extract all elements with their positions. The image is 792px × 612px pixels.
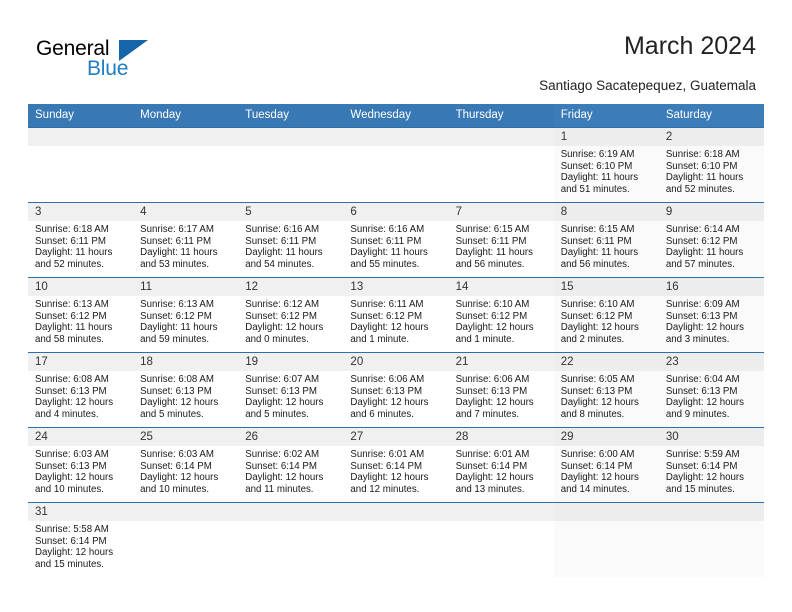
- day-number: 20: [343, 353, 448, 371]
- day-sun-details: Sunrise: 5:58 AMSunset: 6:14 PMDaylight:…: [28, 521, 133, 570]
- calendar-day-cell[interactable]: 16Sunrise: 6:09 AMSunset: 6:13 PMDayligh…: [659, 278, 764, 353]
- page-subtitle: Santiago Sacatepequez, Guatemala: [539, 78, 756, 93]
- sunrise-time: Sunrise: 6:13 AM: [35, 299, 128, 311]
- daylight-duration-line2: and 52 minutes.: [35, 259, 128, 271]
- day-number: 15: [554, 278, 659, 296]
- month-calendar: Sunday Monday Tuesday Wednesday Thursday…: [28, 104, 764, 577]
- daylight-duration-line2: and 7 minutes.: [456, 409, 549, 421]
- calendar-day-cell[interactable]: 4Sunrise: 6:17 AMSunset: 6:11 PMDaylight…: [133, 203, 238, 278]
- sunrise-time: Sunrise: 6:04 AM: [666, 374, 759, 386]
- daylight-duration-line2: and 56 minutes.: [456, 259, 549, 271]
- calendar-week-row: 10Sunrise: 6:13 AMSunset: 6:12 PMDayligh…: [28, 278, 764, 353]
- day-cell-inner: 21Sunrise: 6:06 AMSunset: 6:13 PMDayligh…: [449, 353, 554, 427]
- sunrise-time: Sunrise: 6:18 AM: [35, 224, 128, 236]
- daylight-duration-line1: Daylight: 11 hours: [140, 247, 233, 259]
- daylight-duration-line1: Daylight: 12 hours: [666, 322, 759, 334]
- daylight-duration-line1: Daylight: 12 hours: [350, 472, 443, 484]
- day-cell-inner: 10Sunrise: 6:13 AMSunset: 6:12 PMDayligh…: [28, 278, 133, 352]
- page-header: General Blue March 2024 Santiago Sacatep…: [0, 0, 792, 103]
- day-number: 23: [659, 353, 764, 371]
- daylight-duration-line2: and 52 minutes.: [666, 184, 759, 196]
- calendar-day-cell[interactable]: 19Sunrise: 6:07 AMSunset: 6:13 PMDayligh…: [238, 353, 343, 428]
- weekday-header-sunday: Sunday: [28, 104, 133, 128]
- daylight-duration-line1: Daylight: 12 hours: [561, 472, 654, 484]
- day-sun-details: Sunrise: 6:08 AMSunset: 6:13 PMDaylight:…: [133, 371, 238, 420]
- day-number: [28, 128, 133, 146]
- daylight-duration-line1: Daylight: 11 hours: [666, 172, 759, 184]
- day-cell-inner: [554, 503, 659, 577]
- day-number: 12: [238, 278, 343, 296]
- calendar-body: 1Sunrise: 6:19 AMSunset: 6:10 PMDaylight…: [28, 128, 764, 578]
- day-cell-inner: 1Sunrise: 6:19 AMSunset: 6:10 PMDaylight…: [554, 128, 659, 202]
- calendar-day-cell[interactable]: 22Sunrise: 6:05 AMSunset: 6:13 PMDayligh…: [554, 353, 659, 428]
- day-cell-inner: 2Sunrise: 6:18 AMSunset: 6:10 PMDaylight…: [659, 128, 764, 202]
- daylight-duration-line2: and 15 minutes.: [35, 559, 128, 571]
- calendar-day-cell[interactable]: 1Sunrise: 6:19 AMSunset: 6:10 PMDaylight…: [554, 128, 659, 203]
- calendar-day-cell[interactable]: 15Sunrise: 6:10 AMSunset: 6:12 PMDayligh…: [554, 278, 659, 353]
- daylight-duration-line2: and 55 minutes.: [350, 259, 443, 271]
- daylight-duration-line2: and 58 minutes.: [35, 334, 128, 346]
- daylight-duration-line2: and 9 minutes.: [666, 409, 759, 421]
- sunset-time: Sunset: 6:13 PM: [561, 386, 654, 398]
- day-cell-inner: 16Sunrise: 6:09 AMSunset: 6:13 PMDayligh…: [659, 278, 764, 352]
- day-number: 5: [238, 203, 343, 221]
- sunrise-time: Sunrise: 6:01 AM: [350, 449, 443, 461]
- day-number: 24: [28, 428, 133, 446]
- sunrise-time: Sunrise: 6:05 AM: [561, 374, 654, 386]
- day-number: 25: [133, 428, 238, 446]
- day-cell-inner: 11Sunrise: 6:13 AMSunset: 6:12 PMDayligh…: [133, 278, 238, 352]
- sunrise-time: Sunrise: 6:16 AM: [350, 224, 443, 236]
- day-cell-inner: [28, 128, 133, 202]
- day-sun-details: Sunrise: 6:05 AMSunset: 6:13 PMDaylight:…: [554, 371, 659, 420]
- sunset-time: Sunset: 6:12 PM: [350, 311, 443, 323]
- day-number: 9: [659, 203, 764, 221]
- day-sun-details: Sunrise: 6:01 AMSunset: 6:14 PMDaylight:…: [449, 446, 554, 495]
- daylight-duration-line1: Daylight: 12 hours: [140, 397, 233, 409]
- daylight-duration-line1: Daylight: 12 hours: [456, 472, 549, 484]
- daylight-duration-line1: Daylight: 11 hours: [35, 322, 128, 334]
- day-number: [343, 503, 448, 521]
- day-sun-details: Sunrise: 6:13 AMSunset: 6:12 PMDaylight:…: [28, 296, 133, 345]
- day-number: 18: [133, 353, 238, 371]
- daylight-duration-line2: and 8 minutes.: [561, 409, 654, 421]
- sunrise-time: Sunrise: 6:02 AM: [245, 449, 338, 461]
- logo-text-blue: Blue: [87, 57, 128, 81]
- daylight-duration-line2: and 53 minutes.: [140, 259, 233, 271]
- day-sun-details: Sunrise: 6:06 AMSunset: 6:13 PMDaylight:…: [343, 371, 448, 420]
- daylight-duration-line1: Daylight: 11 hours: [561, 172, 654, 184]
- day-cell-inner: 25Sunrise: 6:03 AMSunset: 6:14 PMDayligh…: [133, 428, 238, 502]
- daylight-duration-line2: and 1 minute.: [456, 334, 549, 346]
- day-cell-inner: 8Sunrise: 6:15 AMSunset: 6:11 PMDaylight…: [554, 203, 659, 277]
- day-sun-details: Sunrise: 6:00 AMSunset: 6:14 PMDaylight:…: [554, 446, 659, 495]
- daylight-duration-line2: and 6 minutes.: [350, 409, 443, 421]
- calendar-day-cell[interactable]: 25Sunrise: 6:03 AMSunset: 6:14 PMDayligh…: [133, 428, 238, 503]
- daylight-duration-line2: and 57 minutes.: [666, 259, 759, 271]
- sunset-time: Sunset: 6:12 PM: [35, 311, 128, 323]
- daylight-duration-line1: Daylight: 12 hours: [561, 322, 654, 334]
- sunrise-time: Sunrise: 6:03 AM: [35, 449, 128, 461]
- day-cell-inner: 14Sunrise: 6:10 AMSunset: 6:12 PMDayligh…: [449, 278, 554, 352]
- day-sun-details: Sunrise: 6:18 AMSunset: 6:10 PMDaylight:…: [659, 146, 764, 195]
- day-number: [238, 503, 343, 521]
- sunrise-time: Sunrise: 6:12 AM: [245, 299, 338, 311]
- day-sun-details: Sunrise: 6:15 AMSunset: 6:11 PMDaylight:…: [554, 221, 659, 270]
- sunset-time: Sunset: 6:14 PM: [245, 461, 338, 473]
- day-number: 14: [449, 278, 554, 296]
- day-cell-inner: [449, 128, 554, 202]
- day-sun-details: Sunrise: 6:08 AMSunset: 6:13 PMDaylight:…: [28, 371, 133, 420]
- day-number: [238, 128, 343, 146]
- daylight-duration-line2: and 56 minutes.: [561, 259, 654, 271]
- day-number: 30: [659, 428, 764, 446]
- sunrise-time: Sunrise: 6:15 AM: [561, 224, 654, 236]
- calendar-day-cell[interactable]: 11Sunrise: 6:13 AMSunset: 6:12 PMDayligh…: [133, 278, 238, 353]
- daylight-duration-line2: and 13 minutes.: [456, 484, 549, 496]
- day-sun-details: Sunrise: 6:14 AMSunset: 6:12 PMDaylight:…: [659, 221, 764, 270]
- daylight-duration-line1: Daylight: 11 hours: [666, 247, 759, 259]
- sunrise-time: Sunrise: 6:07 AM: [245, 374, 338, 386]
- calendar-cell-empty: [554, 503, 659, 578]
- calendar-cell-empty: [238, 503, 343, 578]
- calendar-day-cell[interactable]: 24Sunrise: 6:03 AMSunset: 6:13 PMDayligh…: [28, 428, 133, 503]
- day-sun-details: Sunrise: 6:01 AMSunset: 6:14 PMDaylight:…: [343, 446, 448, 495]
- calendar-day-cell[interactable]: 31Sunrise: 5:58 AMSunset: 6:14 PMDayligh…: [28, 503, 133, 578]
- day-number: 6: [343, 203, 448, 221]
- sunrise-time: Sunrise: 6:06 AM: [456, 374, 549, 386]
- sunset-time: Sunset: 6:11 PM: [350, 236, 443, 248]
- sunrise-time: Sunrise: 6:16 AM: [245, 224, 338, 236]
- day-number: 4: [133, 203, 238, 221]
- day-number: 22: [554, 353, 659, 371]
- sunrise-time: Sunrise: 5:59 AM: [666, 449, 759, 461]
- daylight-duration-line2: and 5 minutes.: [245, 409, 338, 421]
- sunset-time: Sunset: 6:14 PM: [140, 461, 233, 473]
- day-cell-inner: 3Sunrise: 6:18 AMSunset: 6:11 PMDaylight…: [28, 203, 133, 277]
- day-number: 28: [449, 428, 554, 446]
- sunset-time: Sunset: 6:12 PM: [456, 311, 549, 323]
- sunrise-time: Sunrise: 6:19 AM: [561, 149, 654, 161]
- day-sun-details: Sunrise: 6:16 AMSunset: 6:11 PMDaylight:…: [343, 221, 448, 270]
- day-number: 17: [28, 353, 133, 371]
- sunrise-time: Sunrise: 6:00 AM: [561, 449, 654, 461]
- daylight-duration-line2: and 5 minutes.: [140, 409, 233, 421]
- sunrise-time: Sunrise: 6:17 AM: [140, 224, 233, 236]
- day-sun-details: Sunrise: 6:10 AMSunset: 6:12 PMDaylight:…: [449, 296, 554, 345]
- calendar-day-cell[interactable]: 12Sunrise: 6:12 AMSunset: 6:12 PMDayligh…: [238, 278, 343, 353]
- sunrise-time: Sunrise: 6:06 AM: [350, 374, 443, 386]
- calendar-day-cell[interactable]: 26Sunrise: 6:02 AMSunset: 6:14 PMDayligh…: [238, 428, 343, 503]
- calendar-cell-empty: [343, 503, 448, 578]
- daylight-duration-line1: Daylight: 12 hours: [245, 397, 338, 409]
- weekday-header-friday: Friday: [554, 104, 659, 128]
- calendar-cell-empty: [449, 128, 554, 203]
- day-number: [554, 503, 659, 521]
- weekday-header-saturday: Saturday: [659, 104, 764, 128]
- daylight-duration-line1: Daylight: 12 hours: [350, 397, 443, 409]
- sunset-time: Sunset: 6:13 PM: [456, 386, 549, 398]
- day-cell-inner: 6Sunrise: 6:16 AMSunset: 6:11 PMDaylight…: [343, 203, 448, 277]
- day-cell-inner: 7Sunrise: 6:15 AMSunset: 6:11 PMDaylight…: [449, 203, 554, 277]
- day-sun-details: Sunrise: 6:04 AMSunset: 6:13 PMDaylight:…: [659, 371, 764, 420]
- day-number: 26: [238, 428, 343, 446]
- day-sun-details: Sunrise: 6:13 AMSunset: 6:12 PMDaylight:…: [133, 296, 238, 345]
- daylight-duration-line1: Daylight: 11 hours: [561, 247, 654, 259]
- sunrise-time: Sunrise: 6:10 AM: [561, 299, 654, 311]
- day-sun-details: Sunrise: 6:03 AMSunset: 6:13 PMDaylight:…: [28, 446, 133, 495]
- sunset-time: Sunset: 6:11 PM: [140, 236, 233, 248]
- general-blue-logo[interactable]: General Blue: [36, 37, 156, 87]
- day-number: [659, 503, 764, 521]
- day-number: [133, 503, 238, 521]
- sunrise-time: Sunrise: 6:10 AM: [456, 299, 549, 311]
- daylight-duration-line1: Daylight: 11 hours: [140, 322, 233, 334]
- day-cell-inner: 23Sunrise: 6:04 AMSunset: 6:13 PMDayligh…: [659, 353, 764, 427]
- day-sun-details: Sunrise: 6:03 AMSunset: 6:14 PMDaylight:…: [133, 446, 238, 495]
- day-sun-details: Sunrise: 6:12 AMSunset: 6:12 PMDaylight:…: [238, 296, 343, 345]
- day-cell-inner: 17Sunrise: 6:08 AMSunset: 6:13 PMDayligh…: [28, 353, 133, 427]
- day-sun-details: Sunrise: 6:15 AMSunset: 6:11 PMDaylight:…: [449, 221, 554, 270]
- day-number: 27: [343, 428, 448, 446]
- day-number: [449, 128, 554, 146]
- daylight-duration-line1: Daylight: 12 hours: [561, 397, 654, 409]
- daylight-duration-line2: and 4 minutes.: [35, 409, 128, 421]
- day-number: [133, 128, 238, 146]
- daylight-duration-line2: and 3 minutes.: [666, 334, 759, 346]
- sunset-time: Sunset: 6:12 PM: [561, 311, 654, 323]
- day-cell-inner: 31Sunrise: 5:58 AMSunset: 6:14 PMDayligh…: [28, 503, 133, 577]
- day-cell-inner: 19Sunrise: 6:07 AMSunset: 6:13 PMDayligh…: [238, 353, 343, 427]
- calendar-day-cell[interactable]: 23Sunrise: 6:04 AMSunset: 6:13 PMDayligh…: [659, 353, 764, 428]
- calendar-cell-empty: [28, 128, 133, 203]
- page-title: March 2024: [624, 32, 756, 61]
- day-number: 21: [449, 353, 554, 371]
- day-number: [449, 503, 554, 521]
- calendar-day-cell[interactable]: 3Sunrise: 6:18 AMSunset: 6:11 PMDaylight…: [28, 203, 133, 278]
- sunrise-time: Sunrise: 6:03 AM: [140, 449, 233, 461]
- day-number: 7: [449, 203, 554, 221]
- calendar-week-row: 1Sunrise: 6:19 AMSunset: 6:10 PMDaylight…: [28, 128, 764, 203]
- daylight-duration-line1: Daylight: 12 hours: [456, 397, 549, 409]
- day-sun-details: Sunrise: 6:16 AMSunset: 6:11 PMDaylight:…: [238, 221, 343, 270]
- day-number: 19: [238, 353, 343, 371]
- calendar-day-cell[interactable]: 18Sunrise: 6:08 AMSunset: 6:13 PMDayligh…: [133, 353, 238, 428]
- sunset-time: Sunset: 6:13 PM: [666, 386, 759, 398]
- daylight-duration-line1: Daylight: 12 hours: [245, 322, 338, 334]
- sunset-time: Sunset: 6:10 PM: [561, 161, 654, 173]
- daylight-duration-line1: Daylight: 12 hours: [666, 472, 759, 484]
- day-cell-inner: 28Sunrise: 6:01 AMSunset: 6:14 PMDayligh…: [449, 428, 554, 502]
- calendar-day-cell[interactable]: 10Sunrise: 6:13 AMSunset: 6:12 PMDayligh…: [28, 278, 133, 353]
- sunset-time: Sunset: 6:14 PM: [456, 461, 549, 473]
- sunset-time: Sunset: 6:11 PM: [561, 236, 654, 248]
- calendar-day-cell[interactable]: 7Sunrise: 6:15 AMSunset: 6:11 PMDaylight…: [449, 203, 554, 278]
- sunset-time: Sunset: 6:14 PM: [35, 536, 128, 548]
- calendar-day-cell[interactable]: 14Sunrise: 6:10 AMSunset: 6:12 PMDayligh…: [449, 278, 554, 353]
- sunset-time: Sunset: 6:14 PM: [350, 461, 443, 473]
- sunset-time: Sunset: 6:12 PM: [245, 311, 338, 323]
- sunset-time: Sunset: 6:12 PM: [666, 236, 759, 248]
- daylight-duration-line2: and 59 minutes.: [140, 334, 233, 346]
- day-sun-details: Sunrise: 6:19 AMSunset: 6:10 PMDaylight:…: [554, 146, 659, 195]
- sunset-time: Sunset: 6:11 PM: [245, 236, 338, 248]
- daylight-duration-line1: Daylight: 12 hours: [35, 397, 128, 409]
- day-number: 13: [343, 278, 448, 296]
- daylight-duration-line2: and 11 minutes.: [245, 484, 338, 496]
- daylight-duration-line2: and 15 minutes.: [666, 484, 759, 496]
- weekday-header-tuesday: Tuesday: [238, 104, 343, 128]
- day-sun-details: Sunrise: 6:07 AMSunset: 6:13 PMDaylight:…: [238, 371, 343, 420]
- calendar-cell-empty: [449, 503, 554, 578]
- calendar-day-cell[interactable]: 13Sunrise: 6:11 AMSunset: 6:12 PMDayligh…: [343, 278, 448, 353]
- sunset-time: Sunset: 6:13 PM: [666, 311, 759, 323]
- calendar-day-cell[interactable]: 28Sunrise: 6:01 AMSunset: 6:14 PMDayligh…: [449, 428, 554, 503]
- daylight-duration-line1: Daylight: 12 hours: [666, 397, 759, 409]
- calendar-day-cell[interactable]: 30Sunrise: 5:59 AMSunset: 6:14 PMDayligh…: [659, 428, 764, 503]
- calendar-day-cell[interactable]: 6Sunrise: 6:16 AMSunset: 6:11 PMDaylight…: [343, 203, 448, 278]
- calendar-day-cell[interactable]: 17Sunrise: 6:08 AMSunset: 6:13 PMDayligh…: [28, 353, 133, 428]
- daylight-duration-line1: Daylight: 12 hours: [140, 472, 233, 484]
- sunset-time: Sunset: 6:13 PM: [140, 386, 233, 398]
- day-number: 31: [28, 503, 133, 521]
- daylight-duration-line2: and 12 minutes.: [350, 484, 443, 496]
- daylight-duration-line2: and 2 minutes.: [561, 334, 654, 346]
- sunrise-time: Sunrise: 6:08 AM: [35, 374, 128, 386]
- daylight-duration-line1: Daylight: 12 hours: [35, 472, 128, 484]
- sunset-time: Sunset: 6:14 PM: [561, 461, 654, 473]
- daylight-duration-line1: Daylight: 11 hours: [35, 247, 128, 259]
- day-sun-details: Sunrise: 6:06 AMSunset: 6:13 PMDaylight:…: [449, 371, 554, 420]
- calendar-cell-empty: [133, 503, 238, 578]
- sunset-time: Sunset: 6:14 PM: [666, 461, 759, 473]
- day-cell-inner: 27Sunrise: 6:01 AMSunset: 6:14 PMDayligh…: [343, 428, 448, 502]
- calendar-day-cell[interactable]: 20Sunrise: 6:06 AMSunset: 6:13 PMDayligh…: [343, 353, 448, 428]
- day-cell-inner: 29Sunrise: 6:00 AMSunset: 6:14 PMDayligh…: [554, 428, 659, 502]
- day-number: 1: [554, 128, 659, 146]
- sunset-time: Sunset: 6:13 PM: [35, 461, 128, 473]
- day-number: [343, 128, 448, 146]
- calendar-day-cell[interactable]: 27Sunrise: 6:01 AMSunset: 6:14 PMDayligh…: [343, 428, 448, 503]
- day-cell-inner: 5Sunrise: 6:16 AMSunset: 6:11 PMDaylight…: [238, 203, 343, 277]
- day-cell-inner: 26Sunrise: 6:02 AMSunset: 6:14 PMDayligh…: [238, 428, 343, 502]
- calendar-day-cell[interactable]: 21Sunrise: 6:06 AMSunset: 6:13 PMDayligh…: [449, 353, 554, 428]
- calendar-cell-empty: [238, 128, 343, 203]
- daylight-duration-line1: Daylight: 12 hours: [456, 322, 549, 334]
- day-sun-details: Sunrise: 6:18 AMSunset: 6:11 PMDaylight:…: [28, 221, 133, 270]
- sunrise-time: Sunrise: 6:11 AM: [350, 299, 443, 311]
- day-sun-details: Sunrise: 6:10 AMSunset: 6:12 PMDaylight:…: [554, 296, 659, 345]
- daylight-duration-line2: and 1 minute.: [350, 334, 443, 346]
- sunset-time: Sunset: 6:10 PM: [666, 161, 759, 173]
- day-number: 3: [28, 203, 133, 221]
- weekday-header-thursday: Thursday: [449, 104, 554, 128]
- day-number: 11: [133, 278, 238, 296]
- calendar-header-row: Sunday Monday Tuesday Wednesday Thursday…: [28, 104, 764, 128]
- day-cell-inner: 22Sunrise: 6:05 AMSunset: 6:13 PMDayligh…: [554, 353, 659, 427]
- daylight-duration-line1: Daylight: 12 hours: [350, 322, 443, 334]
- calendar-cell-empty: [343, 128, 448, 203]
- sunset-time: Sunset: 6:13 PM: [350, 386, 443, 398]
- calendar-week-row: 31Sunrise: 5:58 AMSunset: 6:14 PMDayligh…: [28, 503, 764, 578]
- day-sun-details: Sunrise: 5:59 AMSunset: 6:14 PMDaylight:…: [659, 446, 764, 495]
- sunrise-time: Sunrise: 6:14 AM: [666, 224, 759, 236]
- sunrise-time: Sunrise: 6:08 AM: [140, 374, 233, 386]
- calendar-day-cell[interactable]: 8Sunrise: 6:15 AMSunset: 6:11 PMDaylight…: [554, 203, 659, 278]
- daylight-duration-line2: and 10 minutes.: [140, 484, 233, 496]
- weekday-header-wednesday: Wednesday: [343, 104, 448, 128]
- day-cell-inner: [449, 503, 554, 577]
- calendar-day-cell[interactable]: 9Sunrise: 6:14 AMSunset: 6:12 PMDaylight…: [659, 203, 764, 278]
- day-sun-details: Sunrise: 6:11 AMSunset: 6:12 PMDaylight:…: [343, 296, 448, 345]
- day-sun-details: Sunrise: 6:09 AMSunset: 6:13 PMDaylight:…: [659, 296, 764, 345]
- day-cell-inner: 30Sunrise: 5:59 AMSunset: 6:14 PMDayligh…: [659, 428, 764, 502]
- day-cell-inner: 18Sunrise: 6:08 AMSunset: 6:13 PMDayligh…: [133, 353, 238, 427]
- day-cell-inner: [238, 128, 343, 202]
- daylight-duration-line2: and 14 minutes.: [561, 484, 654, 496]
- sunrise-time: Sunrise: 6:15 AM: [456, 224, 549, 236]
- calendar-day-cell[interactable]: 2Sunrise: 6:18 AMSunset: 6:10 PMDaylight…: [659, 128, 764, 203]
- day-sun-details: Sunrise: 6:02 AMSunset: 6:14 PMDaylight:…: [238, 446, 343, 495]
- calendar-week-row: 24Sunrise: 6:03 AMSunset: 6:13 PMDayligh…: [28, 428, 764, 503]
- daylight-duration-line2: and 10 minutes.: [35, 484, 128, 496]
- day-number: 16: [659, 278, 764, 296]
- daylight-duration-line1: Daylight: 12 hours: [245, 472, 338, 484]
- sunrise-time: Sunrise: 6:09 AM: [666, 299, 759, 311]
- daylight-duration-line2: and 51 minutes.: [561, 184, 654, 196]
- calendar-cell-empty: [659, 503, 764, 578]
- calendar-week-row: 3Sunrise: 6:18 AMSunset: 6:11 PMDaylight…: [28, 203, 764, 278]
- sunrise-time: Sunrise: 6:18 AM: [666, 149, 759, 161]
- day-number: 10: [28, 278, 133, 296]
- daylight-duration-line1: Daylight: 11 hours: [350, 247, 443, 259]
- sunset-time: Sunset: 6:13 PM: [245, 386, 338, 398]
- sunset-time: Sunset: 6:11 PM: [456, 236, 549, 248]
- day-cell-inner: 13Sunrise: 6:11 AMSunset: 6:12 PMDayligh…: [343, 278, 448, 352]
- sunset-time: Sunset: 6:11 PM: [35, 236, 128, 248]
- day-number: 29: [554, 428, 659, 446]
- day-cell-inner: [343, 128, 448, 202]
- day-cell-inner: [238, 503, 343, 577]
- weekday-header-monday: Monday: [133, 104, 238, 128]
- daylight-duration-line1: Daylight: 12 hours: [35, 547, 128, 559]
- day-cell-inner: 4Sunrise: 6:17 AMSunset: 6:11 PMDaylight…: [133, 203, 238, 277]
- day-cell-inner: 12Sunrise: 6:12 AMSunset: 6:12 PMDayligh…: [238, 278, 343, 352]
- daylight-duration-line2: and 54 minutes.: [245, 259, 338, 271]
- sunset-time: Sunset: 6:13 PM: [35, 386, 128, 398]
- day-cell-inner: [343, 503, 448, 577]
- calendar-day-cell[interactable]: 29Sunrise: 6:00 AMSunset: 6:14 PMDayligh…: [554, 428, 659, 503]
- day-sun-details: Sunrise: 6:17 AMSunset: 6:11 PMDaylight:…: [133, 221, 238, 270]
- day-cell-inner: 20Sunrise: 6:06 AMSunset: 6:13 PMDayligh…: [343, 353, 448, 427]
- daylight-duration-line1: Daylight: 11 hours: [456, 247, 549, 259]
- day-number: 2: [659, 128, 764, 146]
- day-cell-inner: [659, 503, 764, 577]
- calendar-page: General Blue March 2024 Santiago Sacatep…: [0, 0, 792, 612]
- calendar-day-cell[interactable]: 5Sunrise: 6:16 AMSunset: 6:11 PMDaylight…: [238, 203, 343, 278]
- sunrise-time: Sunrise: 6:01 AM: [456, 449, 549, 461]
- daylight-duration-line1: Daylight: 11 hours: [245, 247, 338, 259]
- day-number: 8: [554, 203, 659, 221]
- sunset-time: Sunset: 6:12 PM: [140, 311, 233, 323]
- calendar-week-row: 17Sunrise: 6:08 AMSunset: 6:13 PMDayligh…: [28, 353, 764, 428]
- sunrise-time: Sunrise: 6:13 AM: [140, 299, 233, 311]
- daylight-duration-line2: and 0 minutes.: [245, 334, 338, 346]
- day-cell-inner: [133, 503, 238, 577]
- sunrise-time: Sunrise: 5:58 AM: [35, 524, 128, 536]
- day-cell-inner: [133, 128, 238, 202]
- day-cell-inner: 9Sunrise: 6:14 AMSunset: 6:12 PMDaylight…: [659, 203, 764, 277]
